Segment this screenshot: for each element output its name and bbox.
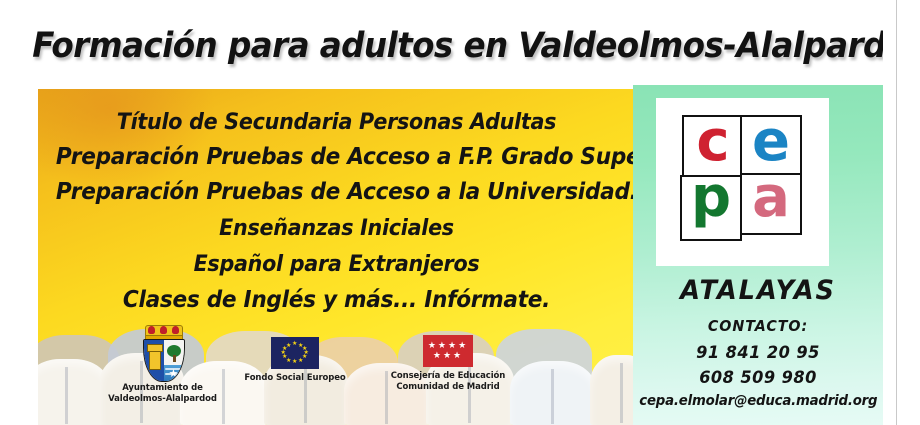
sponsor-caption: Consejería de Educación [368, 371, 528, 382]
madrid-star-row-bottom: ★★★ [433, 351, 463, 361]
coat-of-arms-valdeolmos-icon: ★ [136, 325, 190, 381]
offering-line-2: Preparación Pruebas de Acceso a F.P. Gra… [56, 144, 617, 170]
madrid-star-row-top: ★★★★ [428, 341, 468, 351]
email-address[interactable]: cepa.elmolar@educa.madrid.org [639, 393, 877, 409]
cepa-letter-a: a [742, 171, 800, 225]
crown-jewel [148, 326, 155, 334]
sponsor-caption: Ayuntamiento de [90, 383, 235, 394]
offering-line-1: Título de Secundaria Personas Adultas [56, 110, 617, 135]
shield-left-quarter [144, 340, 164, 381]
shield-right-quarter: ★ [164, 340, 184, 381]
sponsor-ayuntamiento: ★ Ayuntamiento de Valdeolmos-Alalpardod [90, 325, 235, 405]
cepa-letter-c: c [684, 115, 742, 169]
contact-heading: CONTACTO: [639, 317, 877, 335]
european-union-flag-icon: ★ ★ ★ ★ ★ ★ ★ ★ ★ ★ ★ ★ [271, 337, 319, 369]
tower-icon [149, 349, 161, 370]
page-edge-line [896, 0, 897, 425]
cepa-letter-e: e [742, 115, 800, 169]
sponsor-comunidad-de-madrid: ★★★★ ★★★ Consejería de Educación Comunid… [368, 335, 528, 393]
water-waves-icon: ★ [164, 365, 184, 381]
cepa-letter-a-tile: a [740, 173, 802, 235]
right-margin [883, 0, 920, 425]
offering-line-5: Español para Extranjeros [56, 252, 617, 277]
crown-jewel [172, 326, 179, 334]
offering-line-3: Preparación Pruebas de Acceso a la Unive… [56, 179, 617, 205]
crown-jewel [160, 326, 167, 334]
poster-canvas: Formación para adultos en Valdeolmos-Ala… [0, 0, 920, 425]
phone-mobile[interactable]: 608 509 980 [639, 368, 877, 388]
phone-landline[interactable]: 91 841 20 95 [639, 343, 877, 363]
star-icon: ★ [169, 368, 179, 379]
sponsor-caption: Comunidad de Madrid [368, 382, 528, 393]
sponsor-caption: Valdeolmos-Alalpardod [90, 394, 235, 405]
offerings-panel: Título de Secundaria Personas Adultas Pr… [38, 89, 635, 425]
cepa-letter-p-tile: p [680, 175, 742, 241]
center-name: ATALAYAS [639, 275, 877, 306]
page-title: Formación para adultos en Valdeolmos-Ala… [32, 26, 888, 66]
cepa-logo-grid: c e p a [680, 115, 804, 243]
offering-line-4: Enseñanzas Iniciales [56, 216, 617, 241]
sponsor-fondo-social-europeo: ★ ★ ★ ★ ★ ★ ★ ★ ★ ★ ★ ★ Fondo Social Eur… [220, 337, 370, 384]
comunidad-de-madrid-flag-icon: ★★★★ ★★★ [423, 335, 473, 367]
cepa-info-panel: c e p a ATALAYAS CONTACTO: 91 841 20 95 … [633, 85, 883, 425]
shield-shape: ★ [143, 339, 185, 382]
offering-line-6: Clases de Inglés y más... Infórmate. [56, 287, 617, 313]
cepa-letter-p: p [682, 171, 740, 225]
cepa-logo: c e p a [656, 98, 829, 266]
tree-trunk [173, 355, 176, 362]
tower-battlement [147, 344, 163, 352]
sponsor-caption: Fondo Social Europeo [220, 373, 370, 384]
